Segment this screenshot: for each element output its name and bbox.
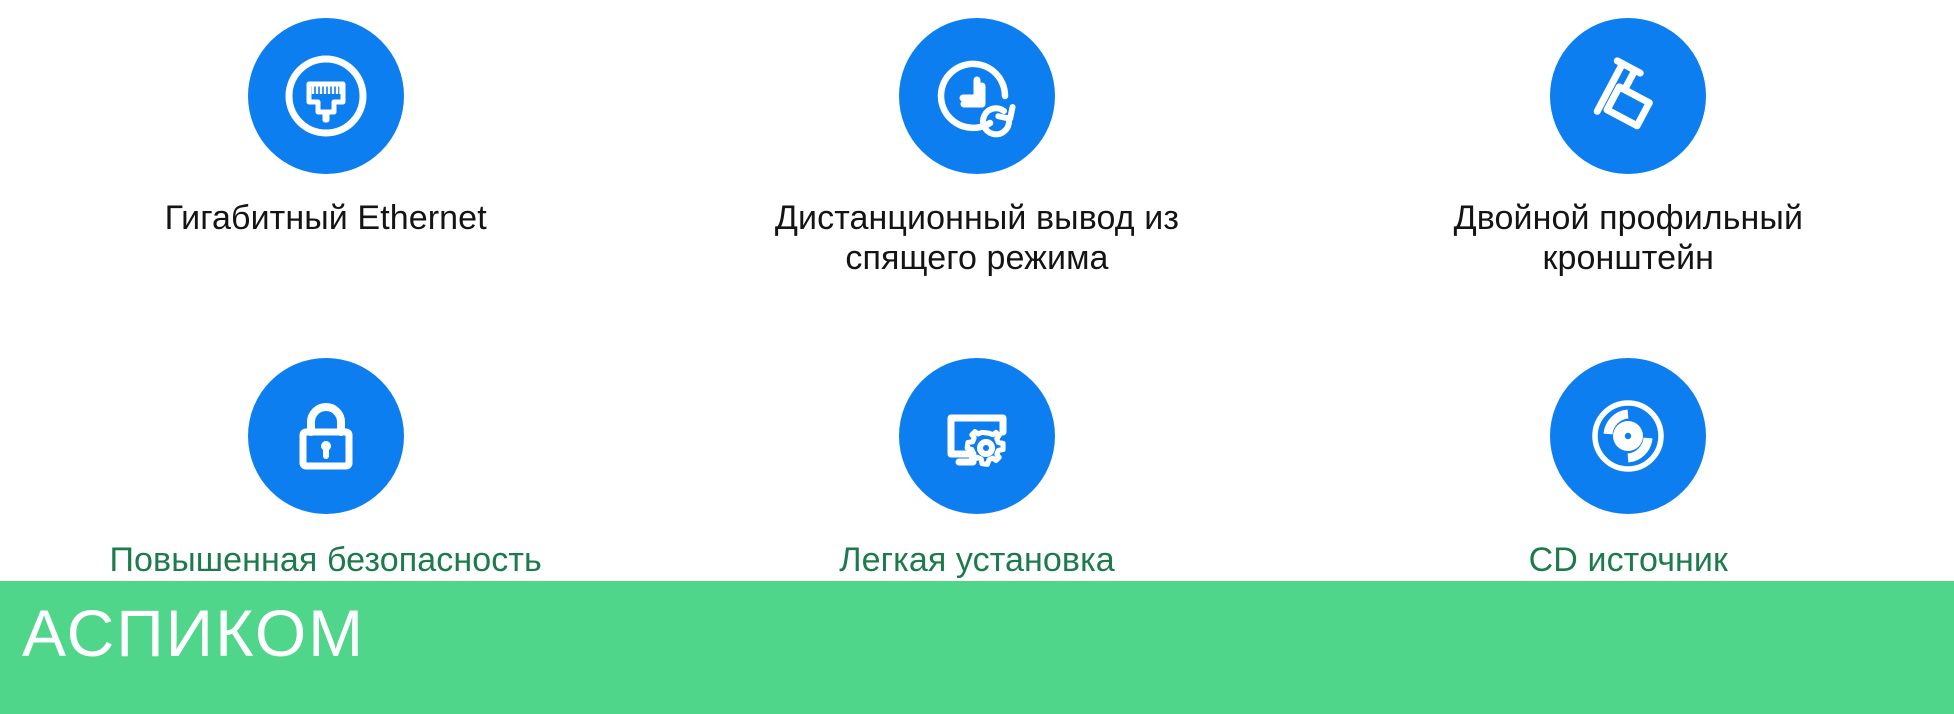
feature-icon-badge [248, 358, 404, 514]
feature-icon-badge [1550, 358, 1706, 514]
cd-disc-icon [1578, 386, 1678, 486]
feature-icon-badge [899, 358, 1055, 514]
feature-card-gigabit-ethernet: Гигабитный Ethernet [0, 18, 651, 358]
ethernet-port-icon [276, 46, 376, 146]
feature-icon-badge [1550, 18, 1706, 174]
monitor-gear-icon [927, 386, 1027, 486]
feature-label: Легкая установка [839, 540, 1115, 580]
feature-grid-banner: Гигабитный Ethernet [0, 0, 1954, 714]
feature-card-dual-profile-bracket: Двойной профильный кронштейн [1303, 18, 1954, 358]
feature-icon-badge [248, 18, 404, 174]
feature-icon-badge [899, 18, 1055, 174]
feature-label: Двойной профильный кронштейн [1398, 198, 1858, 278]
clock-refresh-icon [927, 46, 1027, 146]
feature-label: Повышенная безопасность [110, 540, 542, 580]
mounting-bracket-icon [1578, 46, 1678, 146]
feature-label: Дистанционный вывод из спящего режима [747, 198, 1207, 278]
feature-card-wake-on-lan: Дистанционный вывод из спящего режима [651, 18, 1302, 358]
padlock-icon [276, 386, 376, 486]
feature-label: CD источник [1529, 540, 1728, 580]
green-banner [0, 581, 1954, 714]
feature-label: Гигабитный Ethernet [165, 198, 487, 238]
